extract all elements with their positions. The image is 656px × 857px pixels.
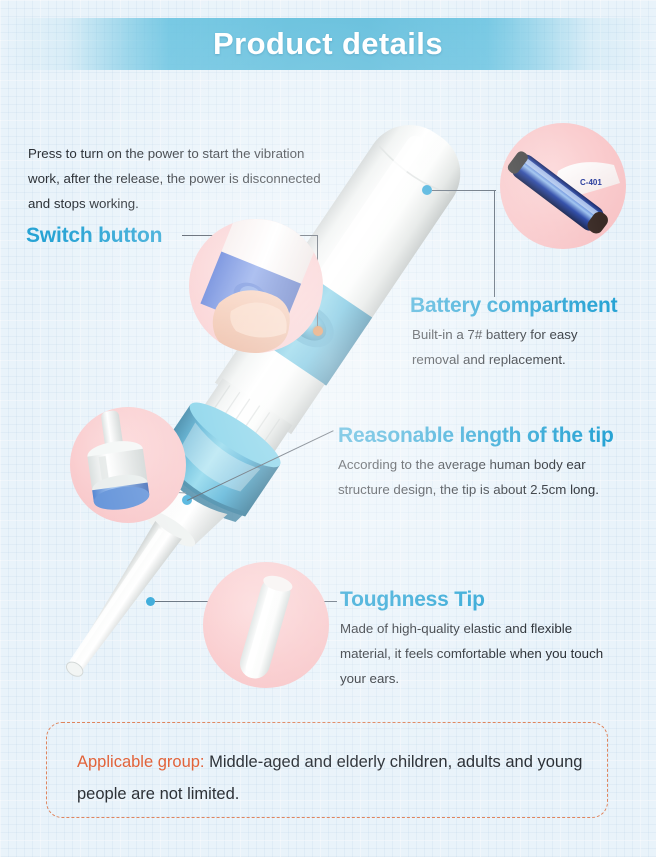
toughness-marker-dot — [146, 597, 155, 606]
battery-closeup-circle: C-401 — [500, 123, 626, 249]
svg-text:C-401: C-401 — [580, 178, 602, 187]
toughness-description: Made of high-quality elastic and flexibl… — [340, 616, 618, 691]
battery-leader-line-horizontal — [432, 190, 496, 191]
applicable-group-text: Applicable group: Middle-aged and elderl… — [77, 746, 587, 810]
tip-length-heading: Reasonable length of the tip — [338, 424, 614, 448]
applicable-group-box: Applicable group: Middle-aged and elderl… — [46, 722, 608, 818]
battery-description: Built-in a 7# battery for easy removal a… — [412, 322, 627, 372]
switch-heading: Switch button — [26, 224, 162, 248]
toughness-tip-closeup-circle — [203, 562, 329, 688]
switch-closeup-circle — [189, 219, 323, 353]
page-title: Product details — [213, 26, 443, 62]
tip-length-description: According to the average human body ear … — [338, 452, 608, 502]
switch-description: Press to turn on the power to start the … — [28, 141, 328, 216]
battery-heading: Battery compartment — [410, 294, 617, 318]
switch-button-marker-dot — [313, 326, 323, 336]
applicable-group-label: Applicable group: — [77, 753, 205, 771]
toughness-heading: Toughness Tip — [340, 588, 485, 612]
tip-length-leader-line — [187, 430, 334, 501]
battery-marker-dot — [422, 185, 432, 195]
tip-attachment-closeup-circle — [70, 407, 186, 523]
battery-leader-line-vertical — [494, 190, 495, 297]
header-banner: Product details — [0, 18, 656, 70]
